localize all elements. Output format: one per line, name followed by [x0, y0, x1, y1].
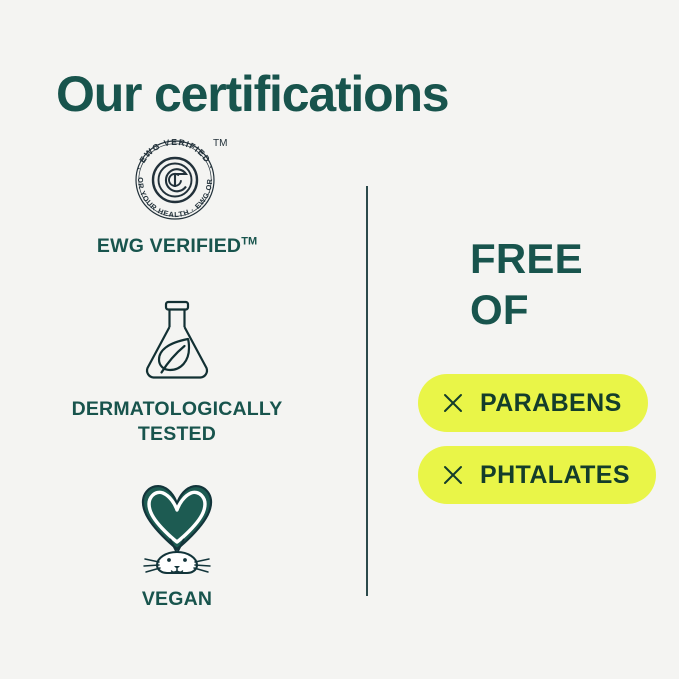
free-of-heading-line-2: OF [470, 284, 583, 335]
free-of-pill-label: PHTALATES [480, 461, 630, 490]
label-line-2: TESTED [72, 422, 283, 447]
rabbit-heart-ears-icon [127, 477, 227, 575]
label-text: EWG VERIFIED [97, 235, 241, 257]
ewg-verified-seal-icon: · EWG VERIFIED · FOR YOUR HEALTH · EWG.O… [125, 130, 229, 222]
certifications-page: Our certifications · EWG VERIFIED · [0, 0, 679, 679]
certifications-list: · EWG VERIFIED · FOR YOUR HEALTH · EWG.O… [22, 130, 332, 612]
trademark-symbol: TM [241, 236, 257, 248]
svg-text:TM: TM [213, 138, 227, 149]
certification-label-vegan: VEGAN [142, 587, 212, 612]
certification-label-dermatologically-tested: DERMATOLOGICALLY TESTED [72, 397, 283, 447]
free-of-list: PARABENS PHTALATES [418, 374, 656, 504]
page-title: Our certifications [56, 67, 448, 122]
certification-item-dermatologically-tested: DERMATOLOGICALLY TESTED [22, 293, 332, 447]
x-mark-icon [442, 392, 464, 414]
free-of-heading-line-1: FREE [470, 233, 583, 284]
free-of-pill-parabens[interactable]: PARABENS [418, 374, 648, 432]
label-line-1: DERMATOLOGICALLY [72, 397, 283, 422]
vertical-divider [366, 186, 368, 596]
certification-item-vegan: VEGAN [22, 477, 332, 612]
free-of-pill-label: PARABENS [480, 389, 622, 418]
certification-item-ewg-verified: · EWG VERIFIED · FOR YOUR HEALTH · EWG.O… [22, 130, 332, 259]
flask-leaf-icon [131, 293, 223, 385]
certification-label-ewg-verified: EWG VERIFIEDTM [97, 234, 257, 259]
free-of-pill-phtalates[interactable]: PHTALATES [418, 446, 656, 504]
free-of-heading: FREE OF [470, 233, 583, 335]
svg-text:· EWG VERIFIED ·: · EWG VERIFIED · [134, 137, 217, 171]
x-mark-icon [442, 464, 464, 486]
